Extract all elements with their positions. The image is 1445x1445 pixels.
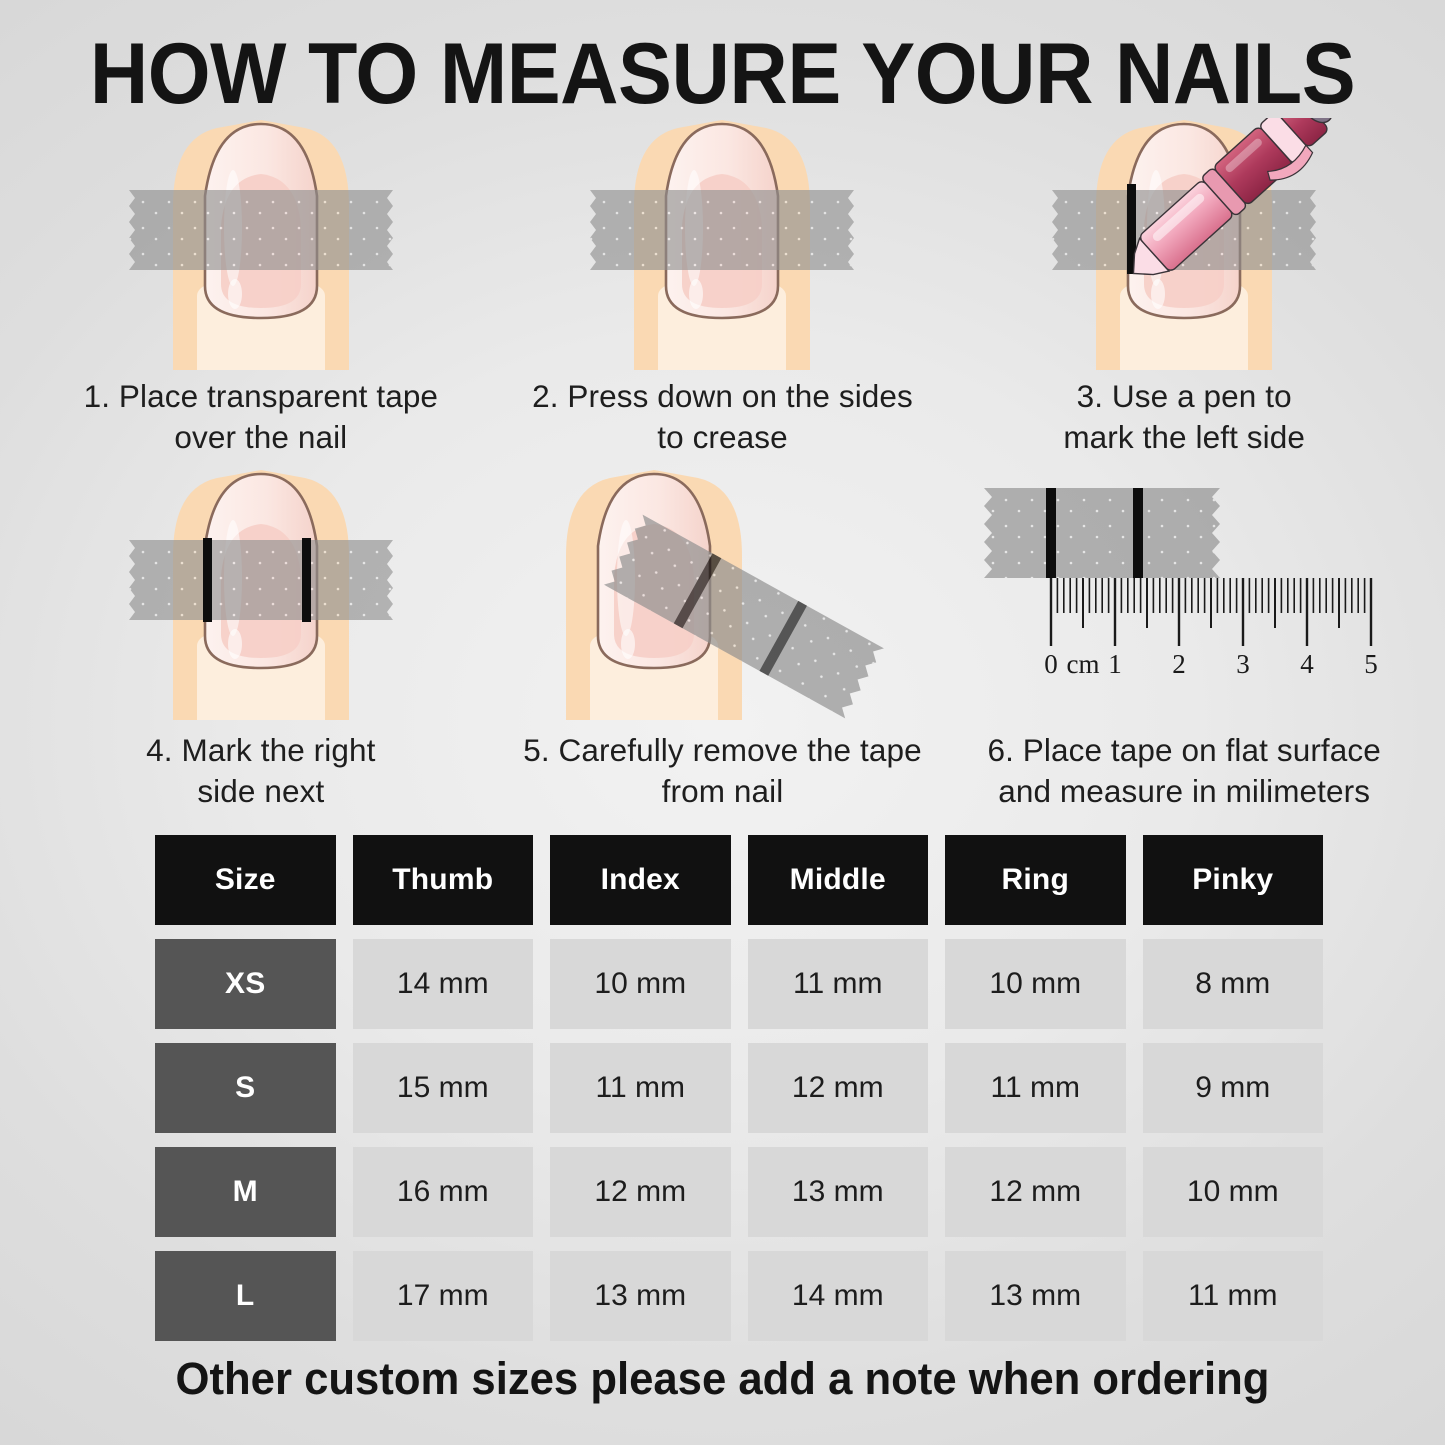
table-header-ring: Ring xyxy=(945,835,1126,925)
ruler-label-0: 0 xyxy=(1044,649,1058,679)
table-cell: 13 mm xyxy=(550,1251,731,1341)
step-5-caption: 5. Carefully remove the tape from nail xyxy=(492,730,954,812)
step-3-caption: 3. Use a pen to mark the left side xyxy=(953,376,1415,458)
right-mark xyxy=(302,538,311,622)
table-cell: 11 mm xyxy=(1143,1251,1324,1341)
table-cell: 9 mm xyxy=(1143,1043,1324,1133)
step-6-caption: 6. Place tape on flat surface and measur… xyxy=(953,730,1415,812)
ruler-label-4: 4 xyxy=(1300,649,1314,679)
finger-tape-two-marks-icon xyxy=(111,468,411,723)
step-3-caption-line2: mark the left side xyxy=(953,417,1415,458)
finger-tape-creased-icon xyxy=(572,118,872,373)
step-6: 0 cm 1 2 3 4 5 6. Place tape on flat sur… xyxy=(953,468,1415,818)
table-cell: 14 mm xyxy=(353,939,534,1029)
table-cell: 13 mm xyxy=(748,1147,929,1237)
table-row-size-label: M xyxy=(155,1147,336,1237)
step-2-illustration xyxy=(492,118,954,373)
table-cell: 10 mm xyxy=(550,939,731,1029)
ruler-label-3: 3 xyxy=(1236,649,1250,679)
step-4: 4. Mark the right side next xyxy=(30,468,492,818)
step-4-illustration xyxy=(30,468,492,723)
table-cell: 12 mm xyxy=(550,1147,731,1237)
step-2-caption-line2: to crease xyxy=(492,417,954,458)
steps-grid: 1. Place transparent tape over the nail xyxy=(30,118,1415,818)
step-2: 2. Press down on the sides to crease xyxy=(492,118,954,468)
ruler-unit-label: cm xyxy=(1067,649,1100,679)
ruler-ticks xyxy=(1051,578,1371,646)
step-3: 3. Use a pen to mark the left side xyxy=(953,118,1415,468)
ruler-label-5: 5 xyxy=(1364,649,1378,679)
step-5-illustration xyxy=(492,468,954,723)
finger-tape-pen-icon xyxy=(1019,118,1349,373)
table-cell: 8 mm xyxy=(1143,939,1324,1029)
ruler-label-2: 2 xyxy=(1172,649,1186,679)
step-5: 5. Carefully remove the tape from nail xyxy=(492,468,954,818)
step-2-caption-line1: 2. Press down on the sides xyxy=(492,376,954,417)
step-4-caption-line1: 4. Mark the right xyxy=(30,730,492,771)
step-6-caption-line1: 6. Place tape on flat surface xyxy=(953,730,1415,771)
tape-on-ruler-icon: 0 cm 1 2 3 4 5 xyxy=(974,468,1394,723)
size-chart-table: Size Thumb Index Middle Ring Pinky XS 14… xyxy=(155,835,1323,1341)
ruler-labels: 0 cm 1 2 3 4 5 xyxy=(1044,649,1378,679)
step-1-caption-line2: over the nail xyxy=(30,417,492,458)
tape-left-mark xyxy=(1046,488,1056,578)
tape-right-mark xyxy=(1133,488,1143,578)
table-cell: 11 mm xyxy=(748,939,929,1029)
finger-with-tape-icon xyxy=(111,118,411,373)
step-6-illustration: 0 cm 1 2 3 4 5 xyxy=(953,468,1415,723)
step-1-caption-line1: 1. Place transparent tape xyxy=(30,376,492,417)
finger-tape-peel-icon xyxy=(542,468,902,723)
ruler-label-1: 1 xyxy=(1108,649,1122,679)
footer-note: Other custom sizes please add a note whe… xyxy=(22,1352,1424,1406)
table-cell: 14 mm xyxy=(748,1251,929,1341)
table-cell: 11 mm xyxy=(945,1043,1126,1133)
table-row-size-label: XS xyxy=(155,939,336,1029)
step-4-caption-line2: side next xyxy=(30,771,492,812)
table-cell: 12 mm xyxy=(748,1043,929,1133)
table-cell: 15 mm xyxy=(353,1043,534,1133)
table-header-index: Index xyxy=(550,835,731,925)
step-3-illustration xyxy=(953,118,1415,373)
table-cell: 11 mm xyxy=(550,1043,731,1133)
table-cell: 10 mm xyxy=(1143,1147,1324,1237)
step-3-caption-line1: 3. Use a pen to xyxy=(953,376,1415,417)
step-1-caption: 1. Place transparent tape over the nail xyxy=(30,376,492,458)
table-cell: 10 mm xyxy=(945,939,1126,1029)
table-header-pinky: Pinky xyxy=(1143,835,1324,925)
tape-strip xyxy=(984,488,1220,578)
step-1: 1. Place transparent tape over the nail xyxy=(30,118,492,468)
table-cell: 12 mm xyxy=(945,1147,1126,1237)
step-5-caption-line1: 5. Carefully remove the tape xyxy=(492,730,954,771)
table-row-size-label: S xyxy=(155,1043,336,1133)
table-row-size-label: L xyxy=(155,1251,336,1341)
step-6-caption-line2: and measure in milimeters xyxy=(953,771,1415,812)
step-2-caption: 2. Press down on the sides to crease xyxy=(492,376,954,458)
table-cell: 17 mm xyxy=(353,1251,534,1341)
table-header-thumb: Thumb xyxy=(353,835,534,925)
table-header-size: Size xyxy=(155,835,336,925)
table-cell: 13 mm xyxy=(945,1251,1126,1341)
page-title: HOW TO MEASURE YOUR NAILS xyxy=(43,26,1401,122)
table-header-middle: Middle xyxy=(748,835,929,925)
step-4-caption: 4. Mark the right side next xyxy=(30,730,492,812)
left-mark xyxy=(203,538,212,622)
step-5-caption-line2: from nail xyxy=(492,771,954,812)
step-1-illustration xyxy=(30,118,492,373)
table-cell: 16 mm xyxy=(353,1147,534,1237)
